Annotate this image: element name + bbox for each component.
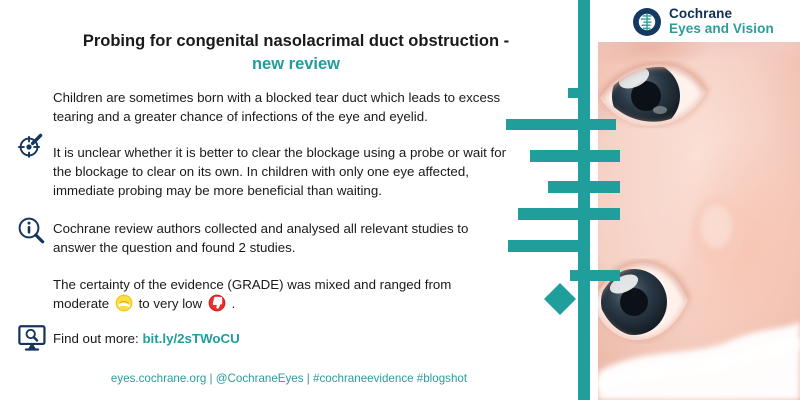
target-crosshair-icon [16, 130, 46, 160]
information-magnifier-icon [16, 215, 46, 245]
grade-very-low-red-thumbs-down-icon [208, 294, 226, 312]
logo-text-cochrane: Cochrane [669, 7, 774, 22]
blogshot-canvas: Cochrane Eyes and Vision Probing for con… [0, 0, 800, 400]
find-out-more-link[interactable]: bit.ly/2sTWoCU [142, 331, 239, 346]
find-out-more: Find out more: bit.ly/2sTWoCU [53, 331, 240, 346]
paragraph-background: Children are sometimes born with a block… [53, 88, 505, 126]
logo-text-eyes-and-vision: Eyes and Vision [669, 22, 774, 37]
paragraph-question: It is unclear whether it is better to cl… [53, 143, 523, 200]
page-title: Probing for congenital nasolacrimal duct… [48, 30, 544, 77]
cochrane-circle-forest-icon [632, 7, 662, 37]
paragraph-studies: Cochrane review authors collected and an… [53, 219, 505, 257]
certainty-text-part2: to very low [139, 296, 203, 311]
footer-credits: eyes.cochrane.org | @CochraneEyes | #coc… [0, 372, 578, 385]
monitor-search-icon [18, 325, 46, 351]
baby-eye-photo [598, 0, 800, 400]
baby-eye-photo-illustration [598, 0, 800, 400]
grade-moderate-yellow-face-icon [115, 294, 133, 312]
page-title-main: Probing for congenital nasolacrimal duct… [83, 32, 509, 50]
find-out-more-label: Find out more: [53, 331, 139, 346]
paragraph-certainty: The certainty of the evidence (GRADE) wa… [53, 275, 505, 313]
page-title-highlight: new review [48, 53, 544, 76]
cochrane-logo: Cochrane Eyes and Vision [632, 4, 792, 40]
certainty-text-part3: . [232, 296, 236, 311]
certainty-text-part1: The certainty of the evidence (GRADE) wa… [53, 277, 451, 311]
